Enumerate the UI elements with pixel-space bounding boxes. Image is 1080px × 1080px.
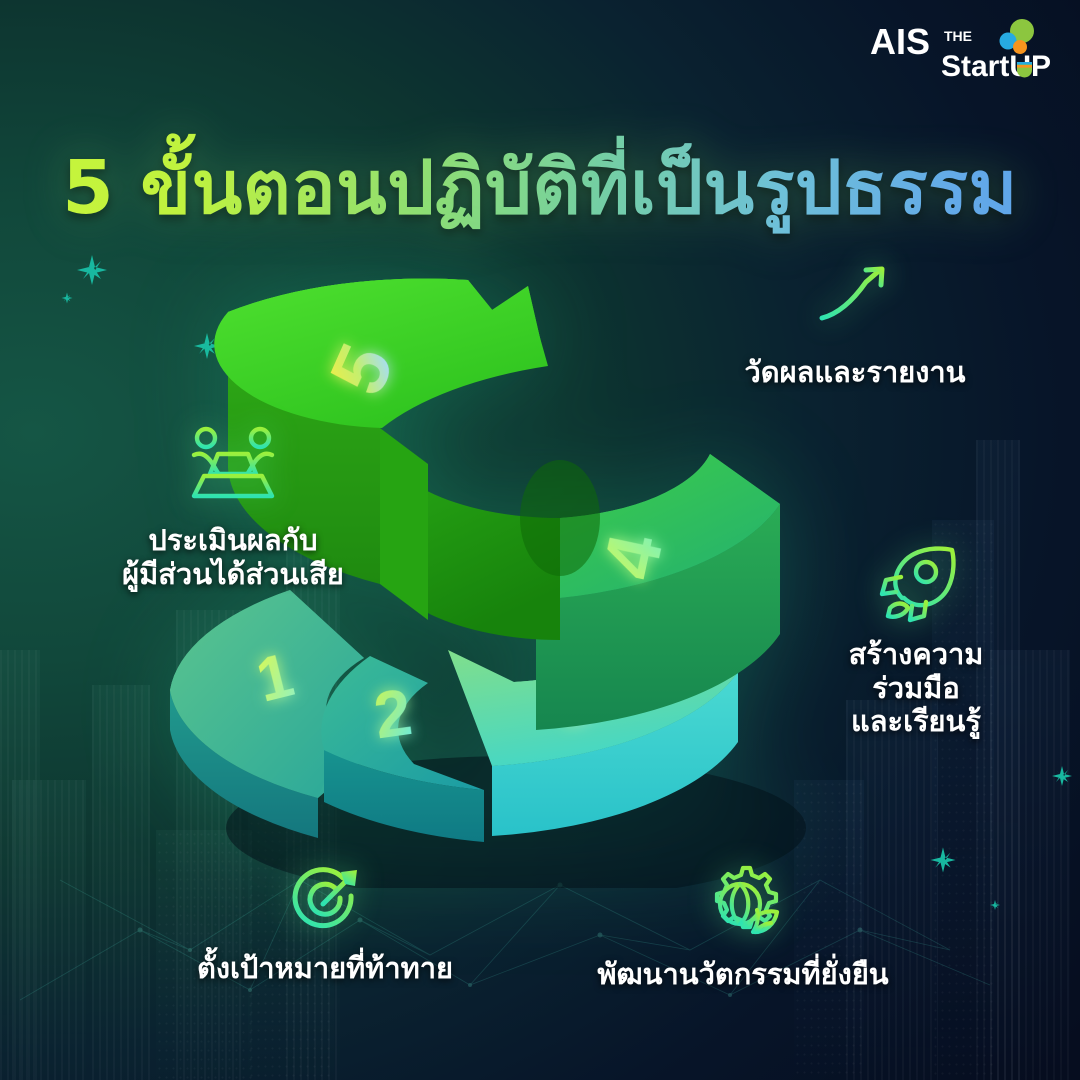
callout-label: ประเมินผลกับ ผู้มีส่วนได้ส่วนเสีย xyxy=(78,524,388,591)
logo-u-cup-icon xyxy=(1017,62,1032,78)
growth-chart-icon xyxy=(808,262,902,348)
callout-measure-and-report: วัดผลและรายงาน xyxy=(690,262,1020,390)
callout-sustainable-innovation: พัฒนานวัตกรรมที่ยั่งยืน xyxy=(548,862,938,992)
logo-balloons-icon xyxy=(1000,19,1035,54)
meeting-people-icon xyxy=(180,424,286,516)
logo-the-text: THE xyxy=(944,28,972,44)
target-dart-icon xyxy=(283,862,367,944)
infographic-canvas: AIS THE StartUP 5 ขั้นตอนปฏิบัติที่เป็นร… xyxy=(0,0,1080,1080)
logo-startup-text: StartUP xyxy=(941,50,1051,83)
callout-label: พัฒนานวัตกรรมที่ยั่งยืน xyxy=(548,958,938,992)
gear-globe-leaf-icon xyxy=(697,862,789,950)
page-title: 5 ขั้นตอนปฏิบัติที่เป็นรูปธรรม xyxy=(0,128,1080,246)
callout-label: สร้างความ ร่วมมือ และเรียนรู้ xyxy=(790,638,1042,739)
logo-ais-text: AIS xyxy=(870,21,930,62)
callout-label: ตั้งเป้าหมายที่ท้าทาย xyxy=(150,952,500,986)
rocket-icon xyxy=(868,542,964,630)
callout-challenging-goals: ตั้งเป้าหมายที่ท้าทาย xyxy=(150,862,500,986)
callout-collaboration-learning: สร้างความ ร่วมมือ และเรียนรู้ xyxy=(790,542,1042,739)
callout-stakeholder-evaluation: ประเมินผลกับ ผู้มีส่วนได้ส่วนเสีย xyxy=(78,424,388,591)
callout-label: วัดผลและรายงาน xyxy=(690,356,1020,390)
ais-the-startup-logo: AIS THE StartUP xyxy=(868,14,1058,92)
